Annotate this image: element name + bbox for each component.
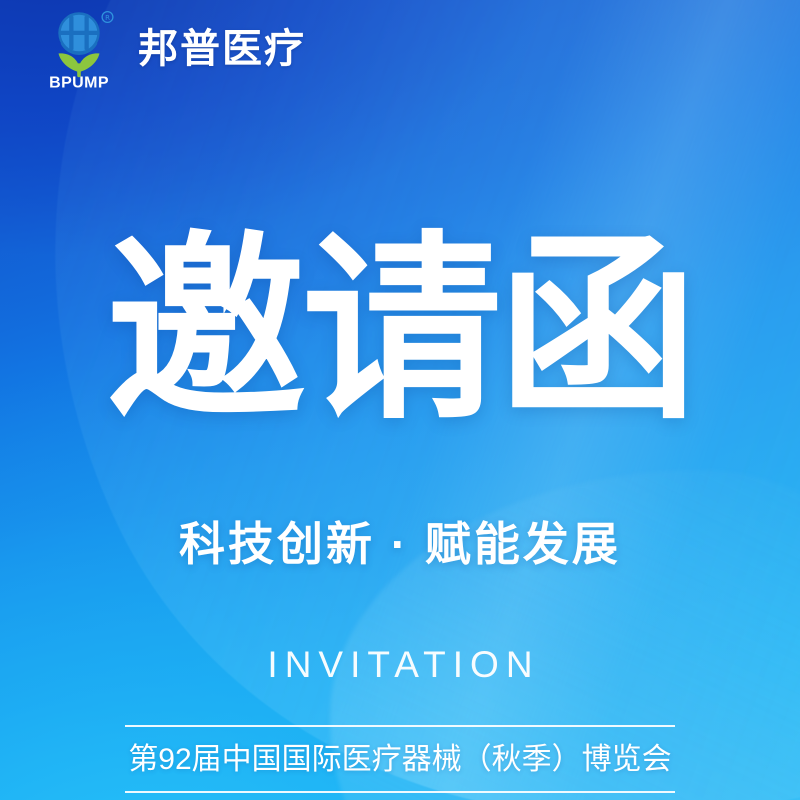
invitation-poster: R BPUMP 邦普医疗 邀请函 xyxy=(0,0,800,800)
svg-text:BPUMP: BPUMP xyxy=(49,75,109,91)
invitation-english-label: INVITATION xyxy=(0,644,800,686)
page-title: 邀请函 xyxy=(0,236,800,426)
brand-header: R BPUMP 邦普医疗 xyxy=(44,8,306,90)
background-swoosh-top-secondary xyxy=(555,0,800,75)
subtitle-slogan: 科技创新 · 赋能发展 xyxy=(0,508,800,574)
headline-block: 邀请函 xyxy=(0,236,800,426)
event-name: 第92届中国国际医疗器械（秋季）博览会 xyxy=(125,727,675,791)
company-name: 邦普医疗 xyxy=(138,29,306,69)
footer-block: 第92届中国国际医疗器械（秋季）博览会 xyxy=(125,725,675,793)
svg-text:R: R xyxy=(105,14,110,22)
footer-rule-bottom xyxy=(125,791,675,793)
bpump-logo-icon: R BPUMP xyxy=(44,8,116,90)
